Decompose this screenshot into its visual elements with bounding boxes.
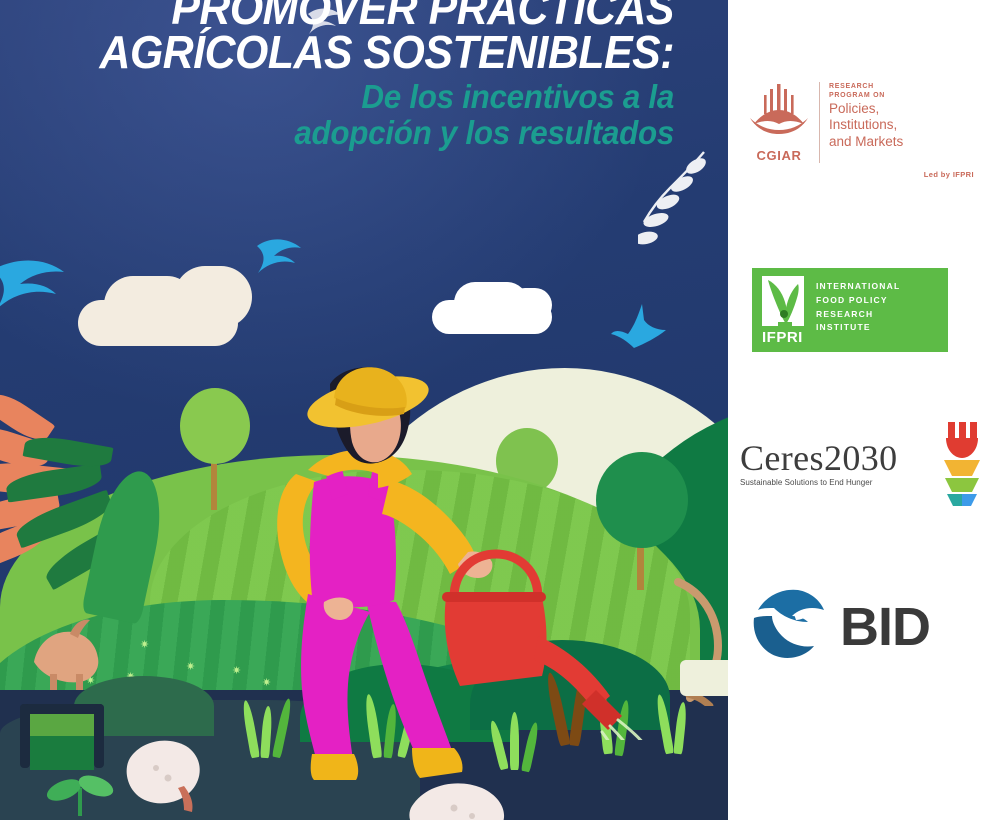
sparkle-icon: ✷: [140, 640, 149, 651]
title-line-2: AGRÍCOLAS SOSTENIBLES:: [47, 30, 674, 74]
subtitle-line-2: adopción y los resultados: [34, 115, 674, 151]
cgiar-led-by: Led by IFPRI: [746, 170, 976, 179]
ifpri-line-2: FOOD POLICY: [816, 294, 900, 308]
cgiar-program-2: Institutions,: [829, 117, 903, 133]
cgiar-divider: [819, 82, 820, 163]
sparkle-icon: ✷: [186, 662, 195, 673]
logo-bid: BID: [750, 588, 970, 666]
cloud-dot-icon: [537, 300, 551, 314]
ceres-sheaf-icon: [940, 420, 986, 511]
subtitle-line-1: De los incentivos a la: [34, 79, 674, 115]
cgiar-eyebrow-2: PROGRAM ON: [829, 91, 903, 100]
ifpri-line-3: RESEARCH: [816, 308, 900, 322]
wheelbarrow-icon: [6, 680, 116, 795]
animal-body: [680, 660, 728, 696]
cover-page: ✷ ✷ ✷ ✷ ✷ ✷ ✷ ✷ ✷ ✷ ✷ ✷: [0, 0, 1000, 820]
cgiar-program-1: Policies,: [829, 101, 903, 117]
cover-illustration: ✷ ✷ ✷ ✷ ✷ ✷ ✷ ✷ ✷ ✷ ✷ ✷: [0, 0, 728, 820]
logo-ceres2030: Ceres2030 Sustainable Solutions to End H…: [740, 440, 990, 514]
cloud-icon: [78, 300, 238, 346]
cgiar-mark: CGIAR: [746, 80, 812, 163]
cover-title-block: PROMOVER PRÁCTICAS AGRÍCOLAS SOSTENIBLES…: [0, 0, 700, 151]
tree-canopy-icon: [180, 388, 250, 464]
swallow-bird-icon: [255, 232, 319, 278]
swallow-bird-icon: [0, 248, 100, 328]
ifpri-wordmark: IFPRI: [762, 329, 806, 346]
bid-mark-icon: [750, 588, 828, 665]
cgiar-wordmark: CGIAR: [746, 148, 812, 163]
ifpri-mark: IFPRI: [762, 276, 806, 346]
swallow-bird-icon: [610, 300, 670, 352]
cgiar-emblem-icon: [746, 80, 812, 142]
tree-canopy-icon: [596, 452, 688, 548]
bid-wordmark: BID: [840, 600, 930, 654]
leaf-branch-icon: [638, 150, 710, 265]
ifpri-line-1: INTERNATIONAL: [816, 280, 900, 294]
cgiar-program-3: and Markets: [829, 134, 903, 150]
logo-ifpri: IFPRI INTERNATIONAL FOOD POLICY RESEARCH…: [752, 268, 948, 352]
sparkle-icon: ✷: [232, 666, 241, 677]
chicken-icon: [112, 724, 222, 820]
watering-can-icon: [430, 540, 680, 745]
ifpri-emblem-icon: [762, 276, 804, 326]
cloud-icon: [432, 300, 552, 334]
cgiar-eyebrow-1: RESEARCH: [829, 82, 903, 91]
ifpri-line-4: INSTITUTE: [816, 321, 900, 335]
logo-cgiar: CGIAR RESEARCH PROGRAM ON Policies, Inst…: [746, 80, 976, 192]
logo-panel: CGIAR RESEARCH PROGRAM ON Policies, Inst…: [728, 0, 1000, 820]
